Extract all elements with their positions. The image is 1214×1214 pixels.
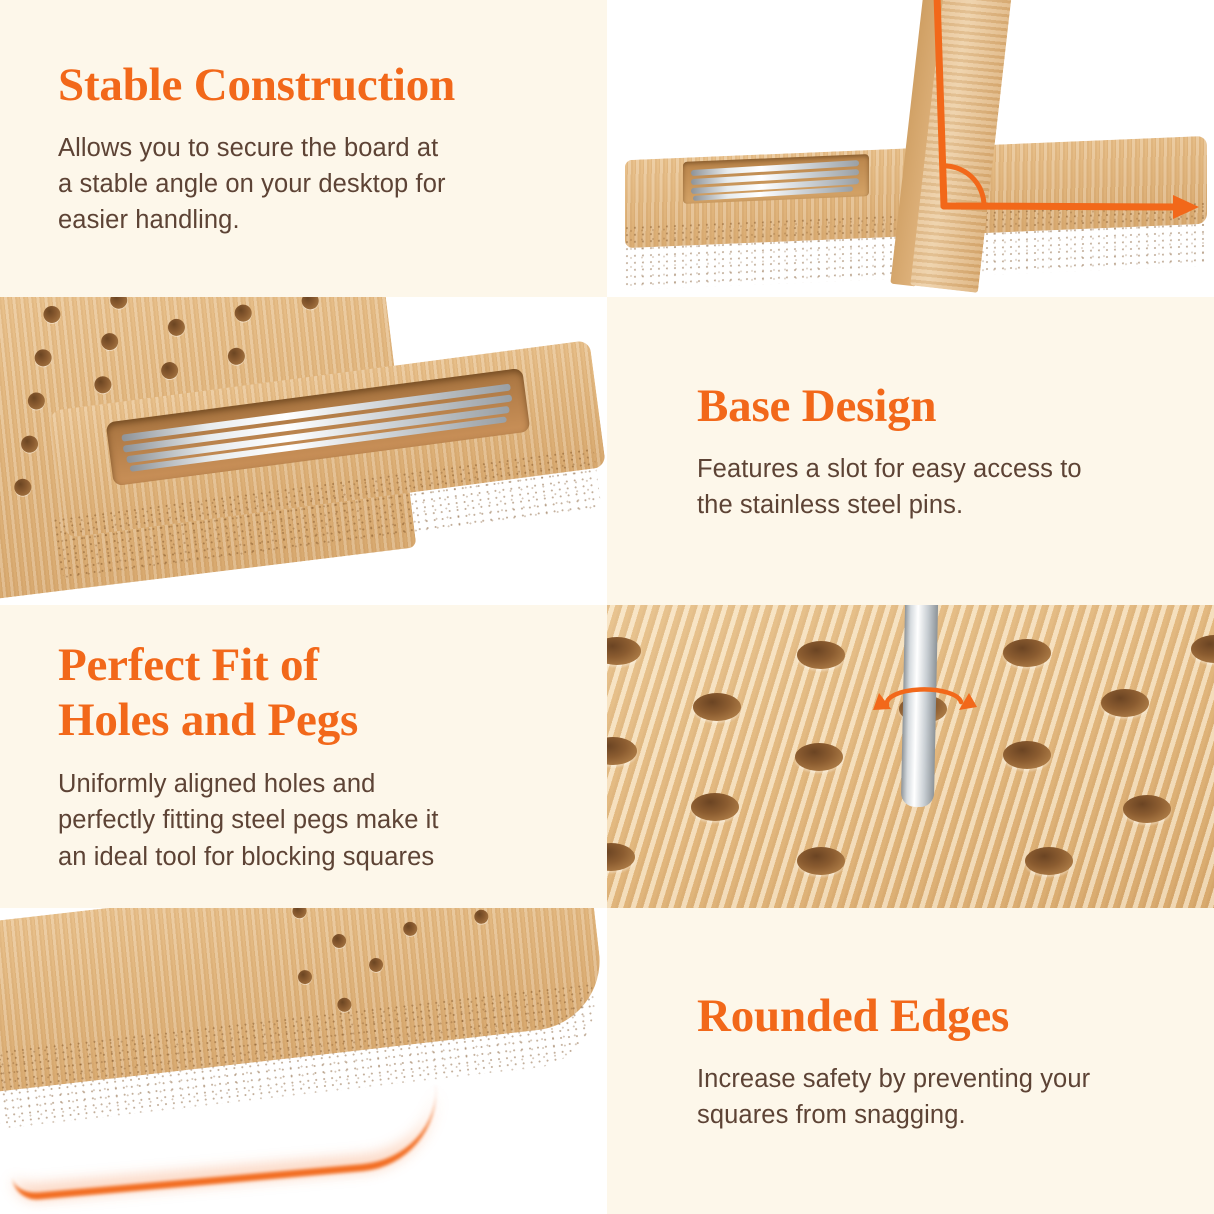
feature-text-perfect-fit: Perfect Fit of Holes and Pegs Uniformly … [0, 605, 607, 908]
feature-image-base-design [0, 297, 607, 605]
feature-title-perfect-fit: Perfect Fit of Holes and Pegs [58, 638, 549, 747]
feature-image-stable-construction [607, 0, 1214, 297]
pin-slot [683, 154, 869, 204]
feature-title-base-design: Base Design [697, 379, 1170, 434]
feature-image-rounded-edges [0, 908, 607, 1214]
steel-peg [901, 605, 938, 807]
feature-description-perfect-fit: Uniformly aligned holes and perfectly fi… [58, 766, 549, 875]
feature-text-base-design: Base Design Features a slot for easy acc… [607, 297, 1214, 605]
feature-description-stable-construction: Allows you to secure the board at a stab… [58, 130, 549, 239]
feature-title-stable-construction: Stable Construction [58, 58, 549, 113]
feature-image-perfect-fit [607, 605, 1214, 908]
feature-description-rounded-edges: Increase safety by preventing your squar… [697, 1061, 1170, 1133]
feature-text-stable-construction: Stable Construction Allows you to secure… [0, 0, 607, 297]
feature-description-base-design: Features a slot for easy access to the s… [697, 451, 1170, 523]
feature-text-rounded-edges: Rounded Edges Increase safety by prevent… [607, 908, 1214, 1214]
product-feature-infographic: Stable Construction Allows you to secure… [0, 0, 1214, 1214]
feature-title-rounded-edges: Rounded Edges [697, 989, 1170, 1044]
